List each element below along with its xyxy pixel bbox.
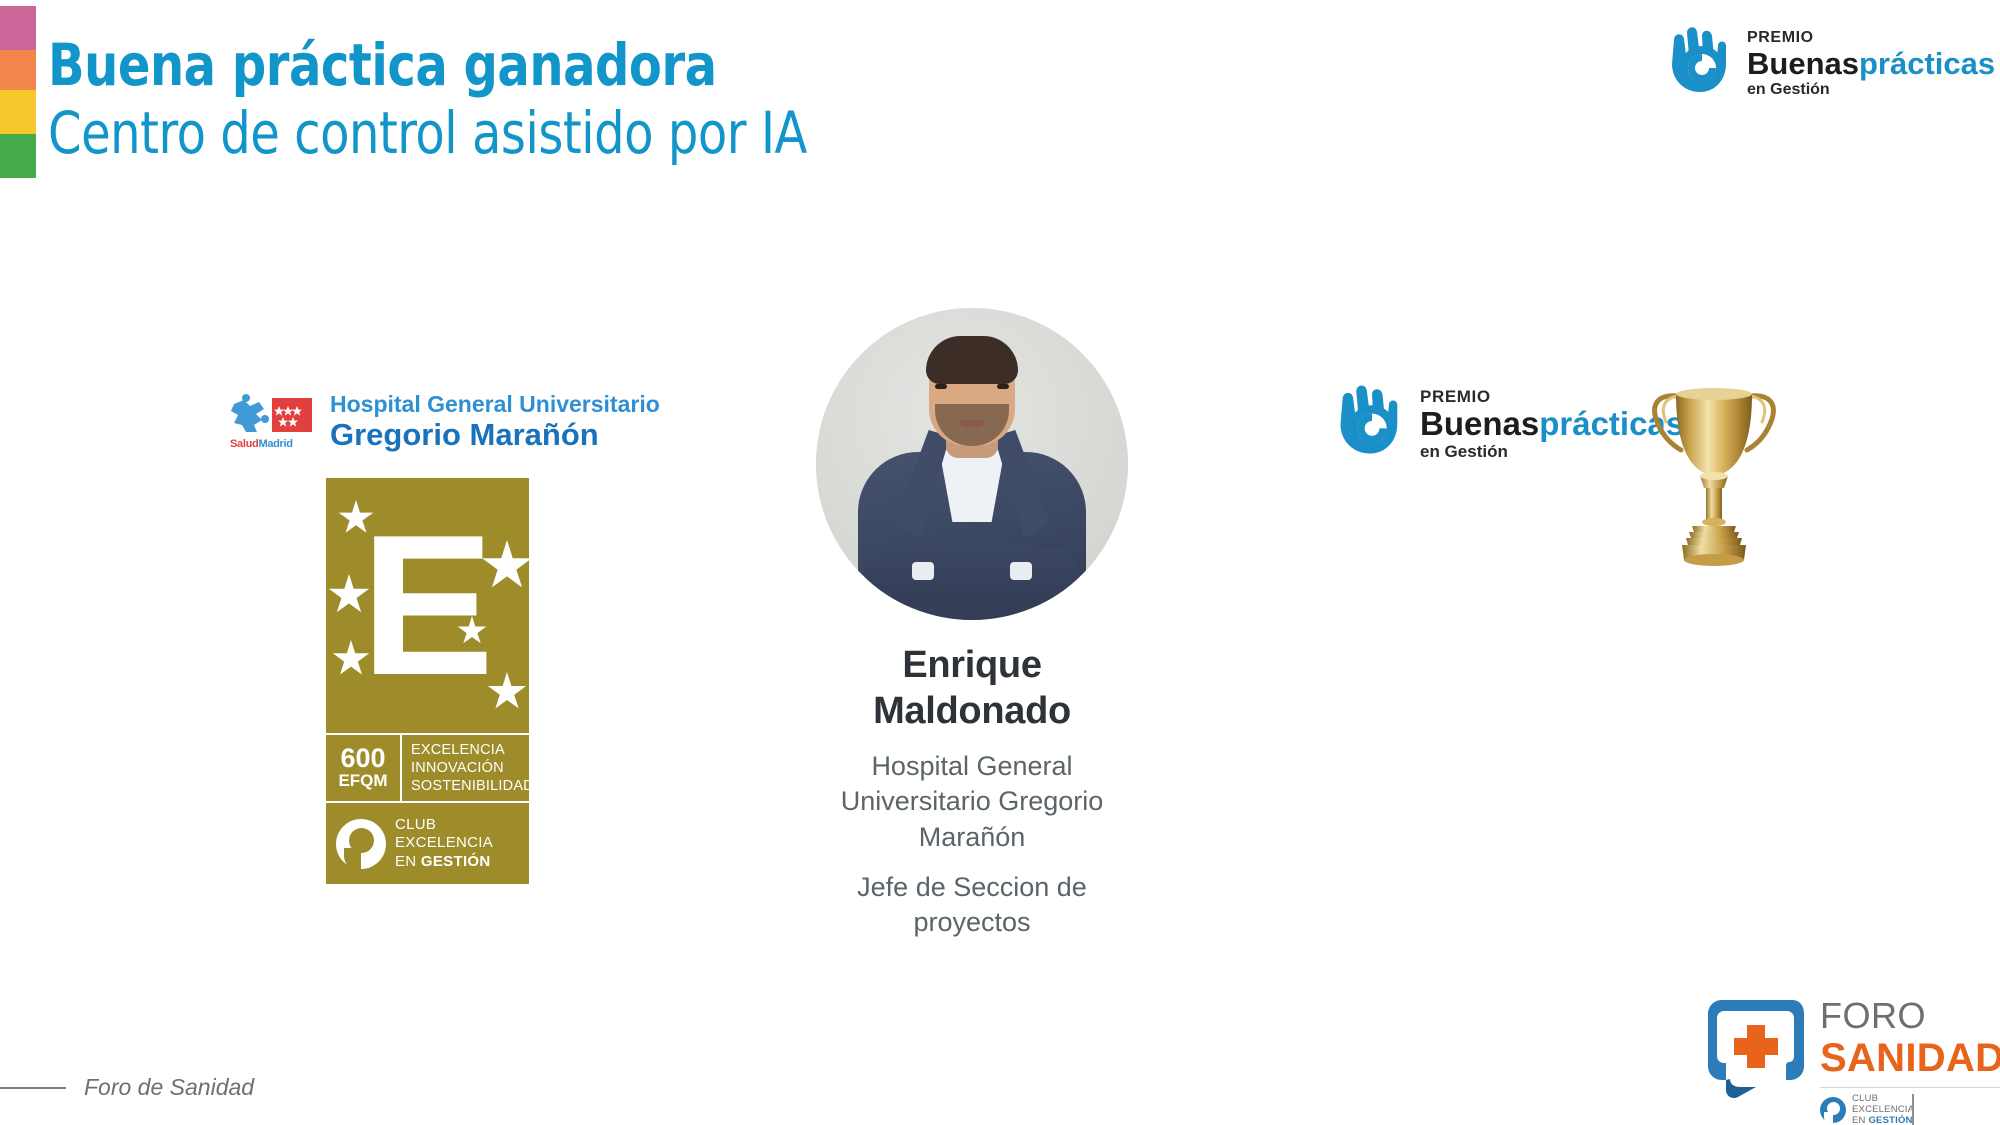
club-line3-prefix: EN bbox=[395, 853, 421, 870]
efqm-value-3: SOSTENIBILIDAD bbox=[411, 777, 534, 795]
hospital-gregorio-maranon-logo: SaludMadrid Hospital General Universitar… bbox=[228, 392, 660, 450]
salud-madrid-wordmark: SaludMadrid bbox=[230, 438, 293, 450]
foro-logo-divider bbox=[1820, 1087, 2000, 1088]
efqm-score-label: EFQM bbox=[338, 772, 387, 791]
efqm-letter-e: E bbox=[361, 528, 494, 684]
club-excelencia-q-icon-small bbox=[1820, 1097, 1846, 1123]
club-line-3: EN GESTIÓN bbox=[395, 853, 493, 871]
club-excelencia-q-icon bbox=[336, 819, 386, 869]
page-subtitle: Centro de control asistido por IA bbox=[48, 101, 1152, 166]
hospital-name-line2: Gregorio Marañón bbox=[330, 419, 660, 450]
slide-canvas: Buena práctica ganadora Centro de contro… bbox=[0, 0, 2000, 1125]
efqm-600-seal: E 600 EFQM EXCELENCIA INNOVACIÓN SOSTENI… bbox=[326, 478, 529, 884]
ok-hand-icon-award bbox=[1330, 382, 1412, 465]
speaker-portrait-photo bbox=[816, 308, 1128, 620]
sanidad-word: SANIDAD bbox=[1820, 1038, 2000, 1078]
award-logo-premio-word: PREMIO bbox=[1420, 388, 1684, 405]
foro-club-line3-strong: GESTIÓN bbox=[1868, 1115, 1912, 1125]
premio-buenas-practicas-logo-header: PREMIO Buenasprácticas en Gestión bbox=[1662, 24, 1995, 103]
footer: Foro de Sanidad bbox=[0, 1074, 254, 1101]
foro-club-excelencia-lockup: CLUB EXCELENCIA EN GESTIÓN bbox=[1820, 1094, 2000, 1125]
foro-club-line-3: EN GESTIÓN bbox=[1852, 1116, 1914, 1125]
logo-premio-word: PREMIO bbox=[1747, 30, 1995, 46]
madrid-text: Madrid bbox=[258, 438, 292, 450]
award-logo-buenas-text: Buenas bbox=[1420, 405, 1539, 442]
club-line-2: EXCELENCIA bbox=[395, 834, 493, 852]
club-line3-strong: GESTIÓN bbox=[421, 853, 491, 870]
salud-madrid-icon: SaludMadrid bbox=[228, 392, 320, 450]
footer-label: Foro de Sanidad bbox=[84, 1074, 254, 1101]
salud-text: Salud bbox=[230, 438, 258, 450]
slide-corner-tick bbox=[1912, 1094, 1914, 1125]
speaker-name: Enrique Maldonado bbox=[812, 642, 1132, 735]
logo-practicas-text: prácticas bbox=[1859, 46, 1995, 81]
speaker-last-name: Maldonado bbox=[812, 688, 1132, 734]
club-excelencia-row: CLUB EXCELENCIA EN GESTIÓN bbox=[326, 803, 529, 884]
accent-bar-pink bbox=[0, 6, 36, 50]
logo-buenas-text: Buenas bbox=[1747, 46, 1859, 81]
logo-gestion-text: en Gestión bbox=[1747, 82, 1995, 98]
footer-rule bbox=[0, 1087, 66, 1089]
efqm-score-row: 600 EFQM EXCELENCIA INNOVACIÓN SOSTENIBI… bbox=[326, 733, 529, 803]
foro-sanidad-logo: FORO SANIDAD CLUB EXCELENCIA EN GESTIÓN bbox=[1700, 992, 2000, 1125]
golden-trophy-image bbox=[1648, 380, 1780, 575]
title-block: Buena práctica ganadora Centro de contro… bbox=[48, 34, 1248, 166]
club-line-1: CLUB bbox=[395, 816, 493, 834]
foro-sanidad-cross-icon bbox=[1700, 992, 1812, 1104]
efqm-value-1: EXCELENCIA bbox=[411, 741, 534, 759]
speaker-organization: Hospital General Universitario Gregorio … bbox=[812, 749, 1132, 856]
award-logo-main-words: Buenasprácticas bbox=[1420, 407, 1684, 440]
page-title: Buena práctica ganadora bbox=[48, 34, 1152, 97]
foro-word: FORO bbox=[1820, 998, 2000, 1034]
efqm-star-panel: E bbox=[326, 478, 529, 733]
accent-bar-orange bbox=[0, 50, 36, 90]
efqm-values-box: EXCELENCIA INNOVACIÓN SOSTENIBILIDAD bbox=[402, 735, 534, 801]
efqm-value-2: INNOVACIÓN bbox=[411, 759, 534, 777]
premio-buenas-practicas-logo-award: PREMIO Buenasprácticas en Gestión bbox=[1330, 382, 1684, 465]
club-excelencia-wordmark: CLUB EXCELENCIA EN GESTIÓN bbox=[395, 816, 493, 871]
logo-main-words: Buenasprácticas bbox=[1747, 48, 1995, 79]
hospital-name-line1: Hospital General Universitario bbox=[330, 393, 660, 416]
foro-club-line3-prefix: EN bbox=[1852, 1115, 1868, 1125]
accent-bar-yellow bbox=[0, 90, 36, 134]
speaker-first-name: Enrique bbox=[812, 642, 1132, 688]
efqm-score-box: 600 EFQM bbox=[326, 735, 402, 801]
accent-bar-green bbox=[0, 134, 36, 178]
speaker-role: Jefe de Seccion de proyectos bbox=[812, 870, 1132, 941]
speaker-card: Enrique Maldonado Hospital General Unive… bbox=[812, 308, 1132, 941]
efqm-score-number: 600 bbox=[340, 745, 385, 772]
award-logo-gestion-text: en Gestión bbox=[1420, 443, 1684, 460]
ok-hand-icon bbox=[1662, 24, 1740, 103]
